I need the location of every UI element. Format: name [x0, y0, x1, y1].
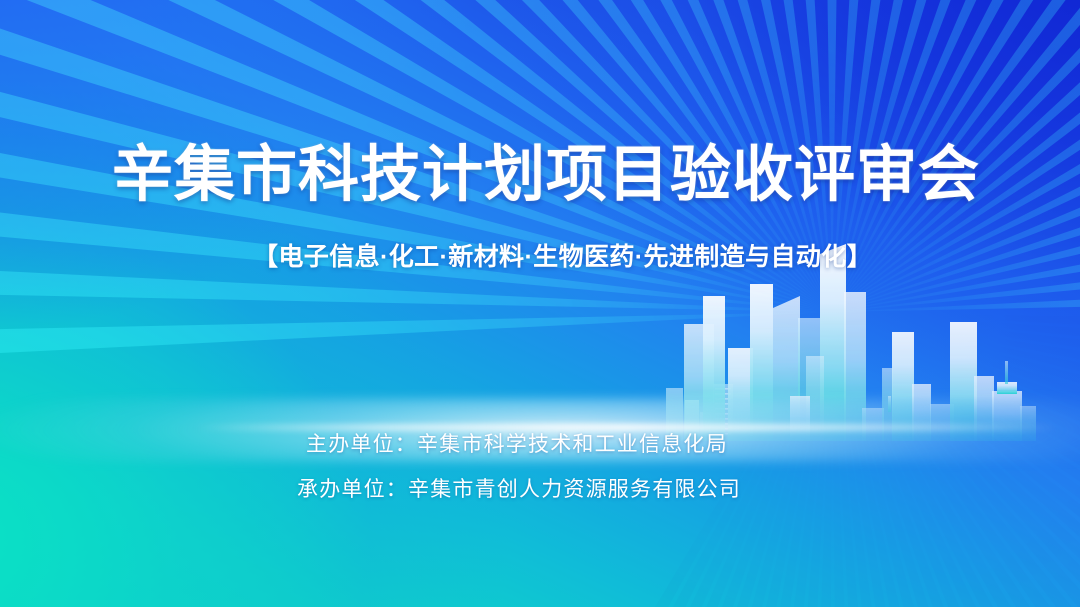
organizer-host: 主办单位：辛集市科学技术和工业信息化局	[306, 428, 728, 458]
radial-shadow-rays	[0, 0, 1080, 607]
organizer-coordinator: 承办单位：辛集市青创人力资源服务有限公司	[297, 473, 741, 503]
page-title: 辛集市科技计划项目验收评审会	[112, 124, 980, 213]
page-subtitle: 【电子信息·化工·新材料·生物医药·先进制造与自动化】	[253, 237, 872, 273]
event-poster: 辛集市科技计划项目验收评审会 【电子信息·化工·新材料·生物医药·先进制造与自动…	[0, 0, 1080, 607]
